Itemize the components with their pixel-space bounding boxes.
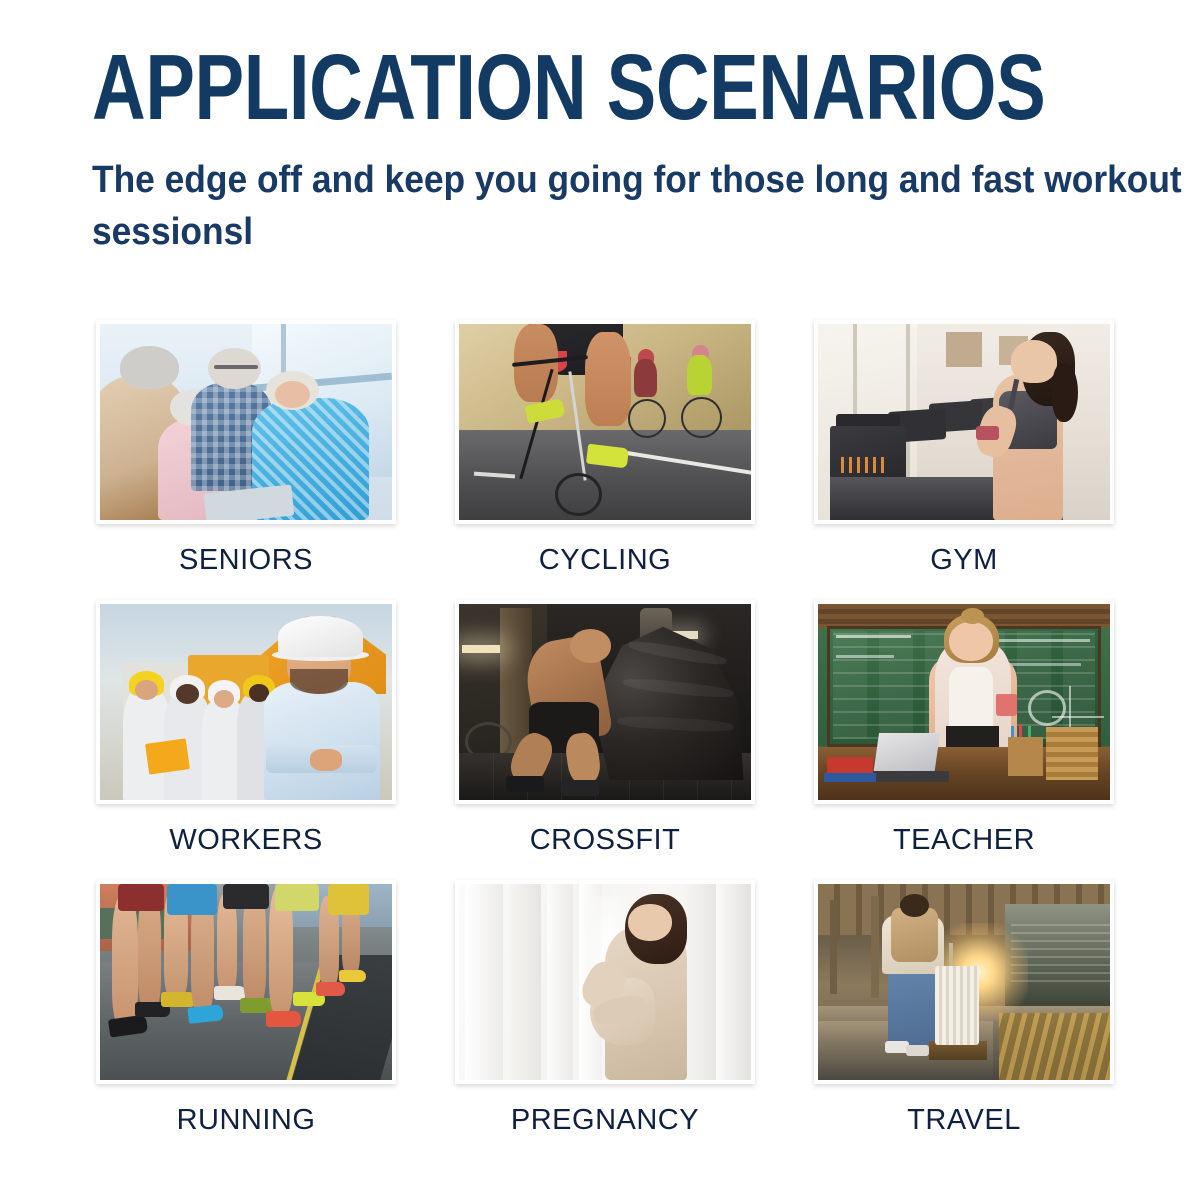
page-subtitle: The edge off and keep you going for thos… <box>92 155 1189 258</box>
card-label-crossfit: CROSSFIT <box>455 824 755 857</box>
photo-frame <box>814 320 1114 524</box>
header: APPLICATION SCENARIOS The edge off and k… <box>92 42 1112 258</box>
teacher-photo <box>818 604 1110 800</box>
scenario-grid: SENIORS CYCLING <box>96 320 1114 1160</box>
scenario-card-cycling: CYCLING <box>455 320 755 600</box>
card-label-teacher: TEACHER <box>814 824 1114 857</box>
seniors-photo <box>100 324 392 520</box>
photo-frame <box>814 880 1114 1084</box>
photo-frame <box>814 600 1114 804</box>
scenario-card-gym: GYM <box>814 320 1114 600</box>
page-title: APPLICATION SCENARIOS <box>92 42 908 133</box>
scenario-card-travel: TRAVEL <box>814 880 1114 1160</box>
gym-photo <box>818 324 1110 520</box>
scenario-card-workers: WORKERS <box>96 600 396 880</box>
photo-frame <box>96 880 396 1084</box>
photo-frame <box>455 880 755 1084</box>
card-label-workers: WORKERS <box>96 824 396 857</box>
card-label-cycling: CYCLING <box>455 544 755 577</box>
scenario-card-running: RUNNING <box>96 880 396 1160</box>
scenario-card-teacher: TEACHER <box>814 600 1114 880</box>
card-label-running: RUNNING <box>96 1104 396 1137</box>
photo-frame <box>96 320 396 524</box>
travel-photo <box>818 884 1110 1080</box>
pregnancy-photo <box>459 884 751 1080</box>
scenario-card-crossfit: CROSSFIT <box>455 600 755 880</box>
application-scenarios-infographic: APPLICATION SCENARIOS The edge off and k… <box>0 0 1200 1200</box>
running-photo <box>100 884 392 1080</box>
card-label-pregnancy: PREGNANCY <box>455 1104 755 1137</box>
card-label-seniors: SENIORS <box>96 544 396 577</box>
scenario-card-pregnancy: PREGNANCY <box>455 880 755 1160</box>
photo-frame <box>455 320 755 524</box>
workers-photo <box>100 604 392 800</box>
scenario-card-seniors: SENIORS <box>96 320 396 600</box>
photo-frame <box>455 600 755 804</box>
crossfit-photo <box>459 604 751 800</box>
card-label-travel: TRAVEL <box>814 1104 1114 1137</box>
card-label-gym: GYM <box>814 544 1114 577</box>
cycling-photo <box>459 324 751 520</box>
photo-frame <box>96 600 396 804</box>
